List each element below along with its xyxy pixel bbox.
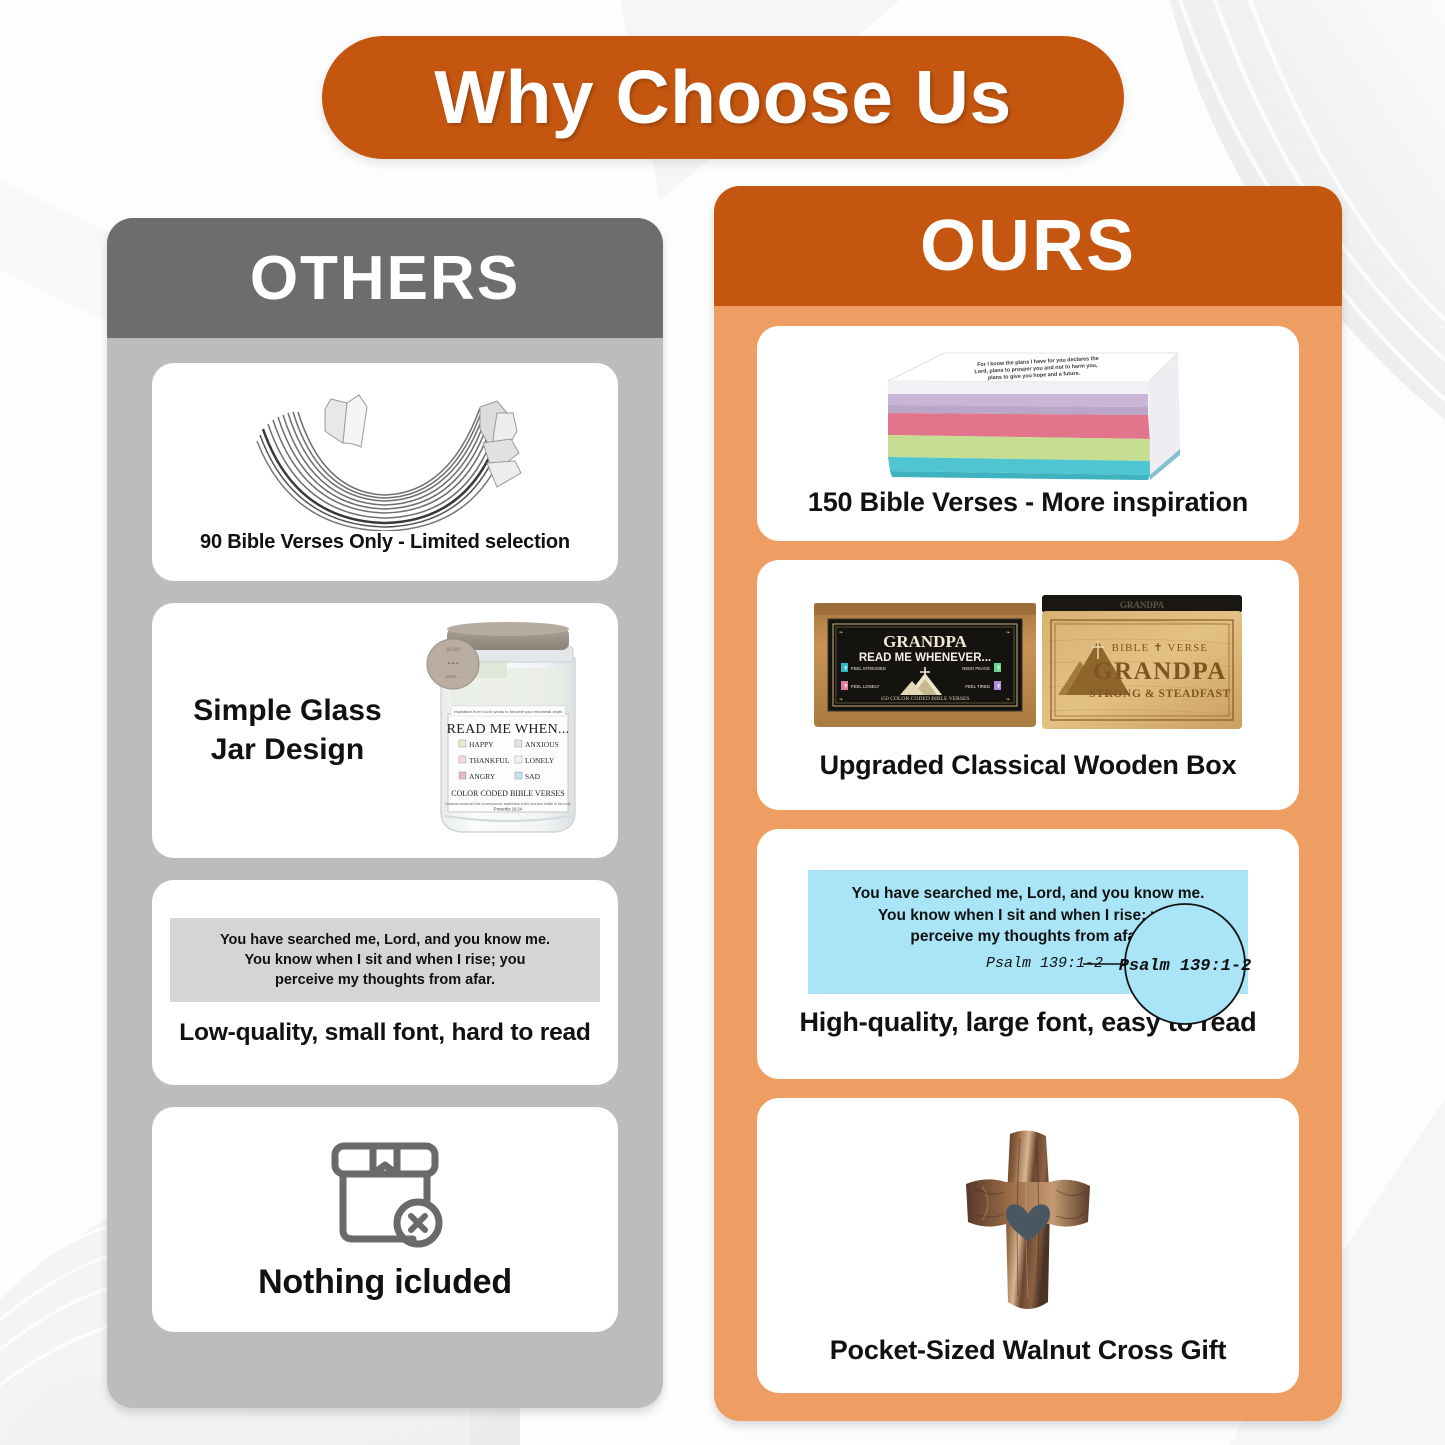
svg-text:READ: READ [446, 648, 460, 653]
svg-text:FEEL TIRED: FEEL TIRED [965, 684, 990, 689]
svg-text:GRANDPA: GRANDPA [1093, 658, 1227, 685]
svg-text:GRANDPA: GRANDPA [1120, 600, 1165, 610]
svg-text:STRONG & STEADFAST: STRONG & STEADFAST [1089, 688, 1231, 700]
walnut-cross-icon [958, 1126, 1098, 1326]
svg-text:GRANDPA: GRANDPA [883, 632, 967, 651]
column-ours: OURS For I know the plans I have for you… [714, 186, 1342, 1421]
svg-text:✝: ✝ [996, 665, 1001, 672]
ours-heading: OURS [920, 205, 1136, 287]
ours-card-bonus-gift: Pocket-Sized Walnut Cross Gift [757, 1098, 1299, 1393]
svg-text:ANXIOUS: ANXIOUS [525, 740, 559, 749]
others-label-bonus-gift: Nothing icluded [258, 1264, 512, 1301]
svg-text:Proverbs 16:24: Proverbs 16:24 [494, 806, 523, 811]
svg-text:FEEL LONELY: FEEL LONELY [851, 684, 880, 689]
svg-text:❧: ❧ [1006, 697, 1010, 703]
others-card-list: 90 Bible Verses Only - Limited selection… [107, 338, 663, 1408]
svg-text:READ ME WHEN...: READ ME WHEN... [447, 722, 570, 737]
svg-text:BIBLE ✝ VERSE: BIBLE ✝ VERSE [1112, 642, 1209, 654]
svg-text:SAD: SAD [525, 772, 541, 781]
ours-label-packaging: Upgraded Classical Wooden Box [820, 751, 1237, 781]
others-label-packaging: Simple Glass Jar Design [170, 692, 405, 769]
svg-text:150 COLOR CODED BIBLE VERSES: 150 COLOR CODED BIBLE VERSES [880, 696, 969, 702]
svg-text:❧: ❧ [839, 697, 843, 703]
svg-text:ANGRY: ANGRY [469, 772, 496, 781]
svg-text:✝: ✝ [843, 665, 848, 672]
wooden-box-icon: ❧❧ ❧❧ GRANDPA READ ME WHENEVER... ✝ FEEL… [808, 589, 1248, 749]
others-card-print-quality: You have searched me, Lord, and you know… [152, 880, 618, 1085]
svg-text:Gracious words are like a hone: Gracious words are like a honeycomb, swe… [445, 802, 571, 806]
ours-label-verses-count: 150 Bible Verses - More inspiration [808, 488, 1248, 518]
svg-text:READ ME WHENEVER...: READ ME WHENEVER... [859, 652, 991, 664]
svg-text:❧: ❧ [1006, 630, 1010, 636]
ours-card-verses-count: For I know the plans I have for you decl… [757, 326, 1299, 541]
others-card-verses-count: 90 Bible Verses Only - Limited selection [152, 363, 618, 581]
svg-text:COLOR CODED BIBLE VERSES: COLOR CODED BIBLE VERSES [451, 789, 564, 798]
ours-card-list: For I know the plans I have for you decl… [714, 306, 1342, 1421]
page-title: Why Choose Us [434, 60, 1011, 135]
magnifier-callout-icon: Psalm 139:1-2 [1083, 894, 1263, 1034]
others-heading: OTHERS [250, 243, 520, 314]
svg-text:LONELY: LONELY [525, 756, 555, 765]
ours-card-packaging: ❧❧ ❧❧ GRANDPA READ ME WHENEVER... ✝ FEEL… [757, 560, 1299, 810]
ours-label-bonus-gift: Pocket-Sized Walnut Cross Gift [830, 1336, 1227, 1366]
ours-header: OURS [714, 186, 1342, 306]
svg-text:✝: ✝ [843, 683, 848, 690]
others-label-print-quality: Low-quality, small font, hard to read [179, 1020, 590, 1047]
svg-text:✝: ✝ [996, 683, 1001, 690]
magnified-reference-text: Psalm 139:1-2 [1119, 957, 1252, 976]
column-others: OTHERS [107, 218, 663, 1408]
others-card-packaging: Simple Glass Jar Design [152, 603, 618, 858]
glass-jar-icon: READ✦✦✦when… inspiration from God's word… [415, 616, 600, 846]
page-title-banner: Why Choose Us [322, 36, 1124, 159]
ours-card-print-quality: You have searched me, Lord, and you know… [757, 829, 1299, 1079]
svg-text:NEED PEACE: NEED PEACE [962, 666, 990, 671]
colored-card-stack-icon: For I know the plans I have for you decl… [848, 349, 1208, 484]
box-cancel-icon [321, 1138, 449, 1256]
ours-verse-box: You have searched me, Lord, and you know… [808, 870, 1248, 994]
svg-text:HAPPY: HAPPY [469, 740, 494, 749]
others-verse-box: You have searched me, Lord, and you know… [170, 918, 600, 1002]
svg-text:FEEL STRESSED: FEEL STRESSED [851, 666, 886, 671]
svg-text:when…: when… [445, 675, 461, 680]
svg-text:inspiration from God's words t: inspiration from God's words to become y… [454, 709, 563, 714]
svg-text:THANKFUL: THANKFUL [469, 756, 510, 765]
svg-text:❧: ❧ [839, 630, 843, 636]
others-card-bonus-gift: Nothing icluded [152, 1107, 618, 1332]
svg-text:✦✦✦: ✦✦✦ [447, 661, 460, 667]
others-header: OTHERS [107, 218, 663, 338]
others-label-verses-count: 90 Bible Verses Only - Limited selection [200, 531, 570, 553]
messy-paper-stack-icon [235, 391, 535, 531]
